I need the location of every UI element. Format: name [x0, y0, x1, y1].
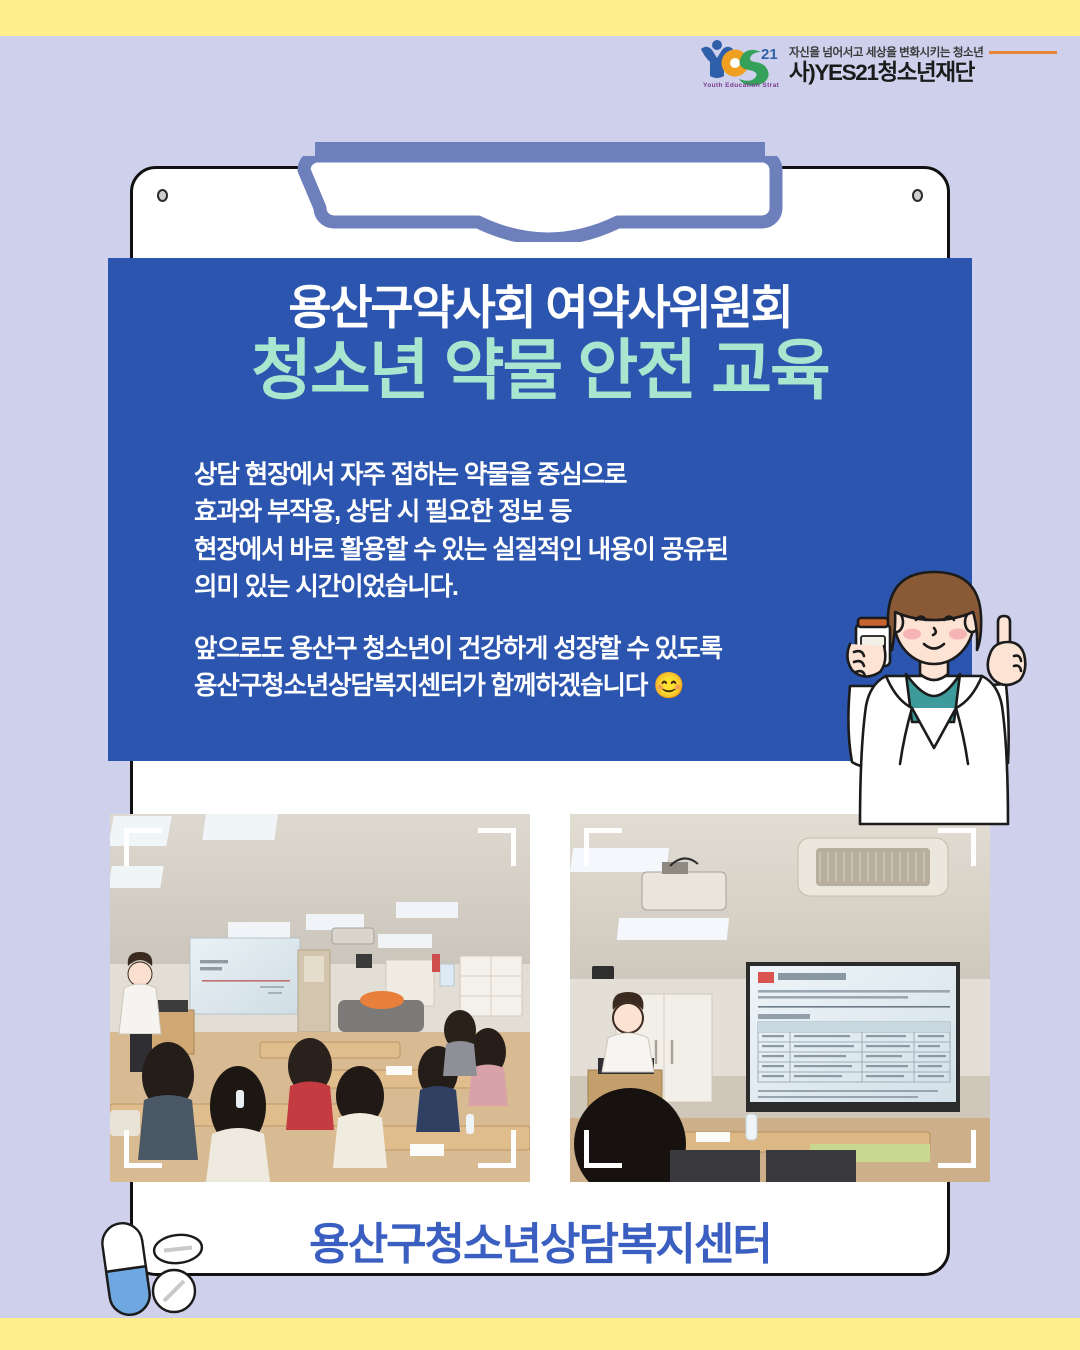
logo-tagline: 자신을 넘어서고 세상을 변화시키는 청소년	[789, 44, 983, 60]
clipboard-hole-right-icon	[912, 189, 923, 202]
svg-text:21: 21	[761, 46, 778, 63]
panel-paragraph-1-line: 의미 있는 시간이었습니다.	[194, 569, 854, 606]
clipboard-clip-icon	[290, 142, 790, 242]
photo-corner-bottom-left	[124, 1130, 162, 1168]
clipboard-hole-left-icon	[157, 189, 168, 202]
photo-corner-top-left	[584, 828, 622, 866]
photo-corner-bottom-right	[478, 1130, 516, 1168]
poster-stage: 21 Youth Education Strategy 자신을 넘어서고 세상을…	[0, 0, 1080, 1350]
logo-rule-decoration	[989, 51, 1057, 54]
photo-classroom-audience	[110, 814, 530, 1182]
clipboard-clip-body	[290, 156, 790, 242]
panel-title-primary: 용산구약사회 여약사위원회	[108, 282, 972, 334]
center-name-footer: 용산구청소년상담복지센터	[130, 1208, 950, 1272]
svg-text:Youth Education Strategy: Youth Education Strategy	[703, 82, 779, 89]
photo-corner-bottom-right	[938, 1130, 976, 1168]
panel-paragraph-1-line: 현장에서 바로 활용할 수 있는 실질적인 내용이 공유된	[194, 532, 854, 569]
panel-paragraph-2: 앞으로도 용산구 청소년이 건강하게 성장할 수 있도록 용산구청소년상담복지센…	[194, 631, 854, 706]
panel-paragraph-1-line: 상담 현장에서 자주 접하는 약물을 중심으로	[194, 457, 854, 494]
photo-corner-top-right	[938, 828, 976, 866]
logo-text-block: 자신을 넘어서고 세상을 변화시키는 청소년 사)YES21청소년재단	[789, 44, 1057, 86]
panel-title-secondary: 청소년 약물 안전 교육	[108, 334, 972, 408]
panel-paragraph-2-line: 앞으로도 용산구 청소년이 건강하게 성장할 수 있도록	[194, 631, 854, 668]
panel-body: 상담 현장에서 자주 접하는 약물을 중심으로 효과와 부작용, 상담 시 필요…	[194, 457, 854, 706]
pill-decoration	[92, 1213, 222, 1325]
photo-corner-top-left	[124, 828, 162, 866]
yes21-logo-icon: 21 Youth Education Strategy	[695, 39, 779, 91]
photo-corner-top-right	[478, 828, 516, 866]
photo-gallery	[110, 814, 990, 1182]
top-accent-band	[0, 0, 1080, 36]
panel-paragraph-2-line: 용산구청소년상담복지센터가 함께하겠습니다 😊	[194, 668, 854, 705]
pharmacist-illustration	[828, 558, 1080, 826]
foundation-logo-header: 21 Youth Education Strategy 자신을 넘어서고 세상을…	[695, 34, 1025, 96]
panel-paragraph-1: 상담 현장에서 자주 접하는 약물을 중심으로 효과와 부작용, 상담 시 필요…	[194, 457, 854, 607]
photo-corner-bottom-left	[584, 1130, 622, 1168]
foundation-name: 사)YES21청소년재단	[789, 61, 1057, 86]
logo-tagline-row: 자신을 넘어서고 세상을 변화시키는 청소년	[789, 44, 1057, 60]
panel-paragraph-1-line: 효과와 부작용, 상담 시 필요한 정보 등	[194, 494, 854, 531]
photo-projector-slide	[570, 814, 990, 1182]
